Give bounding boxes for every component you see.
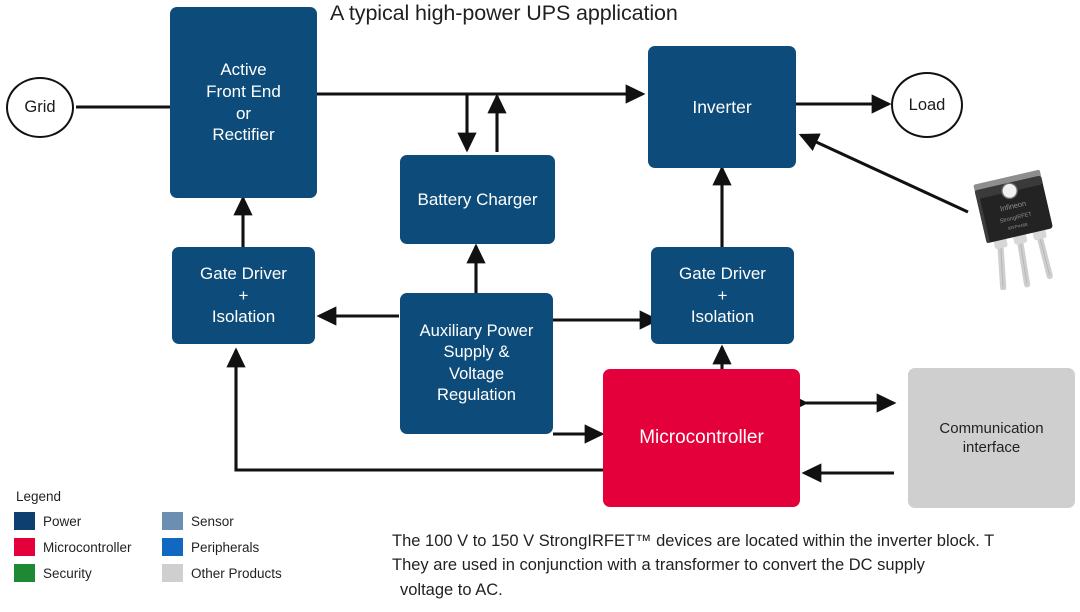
legend-item-peripherals: Peripherals [162, 538, 310, 556]
legend-label-peripherals: Peripherals [191, 540, 259, 555]
block-microcontroller[interactable]: Microcontroller [603, 369, 800, 507]
legend-items: Power Sensor Microcontroller Peripherals… [14, 508, 334, 586]
legend-swatch-security [14, 564, 35, 582]
caption-line-2: They are used in conjunction with a tran… [392, 553, 1080, 577]
diagram-canvas: A typical high-power UPS application [0, 0, 1080, 612]
block-auxiliary-power-supply-label: Auxiliary Power Supply & Voltage Regulat… [420, 321, 534, 405]
block-communication-interface-label: Communication interface [939, 419, 1043, 457]
block-gate-driver-right[interactable]: Gate Driver + Isolation [651, 247, 794, 344]
legend-title: Legend [16, 489, 334, 504]
caption-line-3: voltage to AC. [392, 578, 1080, 602]
caption: The 100 V to 150 V StrongIRFET™ devices … [392, 529, 1080, 602]
legend-item-power: Power [14, 512, 162, 530]
legend-item-security: Security [14, 564, 162, 582]
legend-label-power: Power [43, 514, 81, 529]
legend-swatch-other-products [162, 564, 183, 582]
legend-swatch-peripherals [162, 538, 183, 556]
legend-label-sensor: Sensor [191, 514, 234, 529]
page-title: A typical high-power UPS application [330, 1, 678, 26]
node-load-label: Load [909, 96, 946, 115]
block-gate-driver-left[interactable]: Gate Driver + Isolation [172, 247, 315, 344]
legend-swatch-microcontroller [14, 538, 35, 556]
legend-label-microcontroller: Microcontroller [43, 540, 132, 555]
block-inverter-label: Inverter [692, 96, 751, 118]
block-active-front-end[interactable]: Active Front End or Rectifier [170, 7, 317, 198]
block-auxiliary-power-supply[interactable]: Auxiliary Power Supply & Voltage Regulat… [400, 293, 553, 434]
block-communication-interface[interactable]: Communication interface [908, 368, 1075, 508]
block-gate-driver-right-label: Gate Driver + Isolation [679, 263, 766, 328]
caption-line-1: The 100 V to 150 V StrongIRFET™ devices … [392, 529, 1080, 553]
legend-swatch-sensor [162, 512, 183, 530]
legend-label-other-products: Other Products [191, 566, 282, 581]
legend-item-microcontroller: Microcontroller [14, 538, 162, 556]
block-inverter[interactable]: Inverter [648, 46, 796, 168]
block-battery-charger-label: Battery Charger [418, 189, 538, 211]
block-active-front-end-label: Active Front End or Rectifier [206, 59, 281, 146]
legend-swatch-power [14, 512, 35, 530]
block-microcontroller-label: Microcontroller [639, 426, 764, 450]
legend: Legend Power Sensor Microcontroller Peri… [14, 489, 334, 586]
node-grid-label: Grid [24, 98, 55, 117]
node-grid[interactable]: Grid [6, 77, 74, 138]
legend-item-other-products: Other Products [162, 564, 310, 582]
node-load[interactable]: Load [891, 72, 963, 138]
legend-item-sensor: Sensor [162, 512, 310, 530]
power-mosfet-product-image: Infineon StrongIRFET IRFP4468 [966, 168, 1068, 290]
legend-label-security: Security [43, 566, 92, 581]
block-gate-driver-left-label: Gate Driver + Isolation [200, 263, 287, 328]
block-battery-charger[interactable]: Battery Charger [400, 155, 555, 244]
